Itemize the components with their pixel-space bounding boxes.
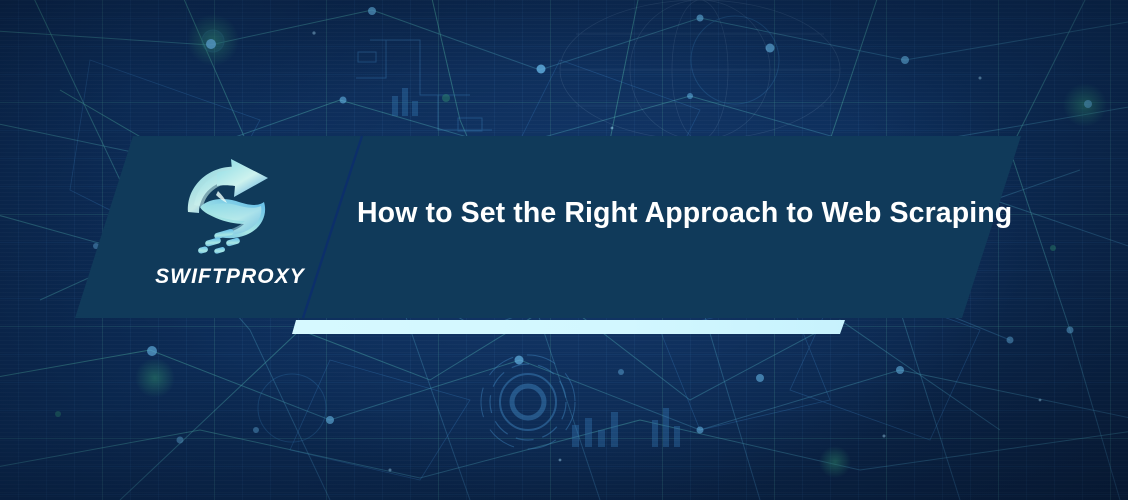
brand-wordmark: SWIFTPROXY [150,265,310,289]
swiftproxy-arrow-s-logo-icon [178,155,282,259]
brand-logo: SWIFTPROXY [150,155,310,289]
accent-underline-bar [292,320,845,334]
banner-image: SWIFTPROXY How to Set the Right Approach… [0,0,1128,500]
page-title: How to Set the Right Approach to Web Scr… [357,196,997,230]
